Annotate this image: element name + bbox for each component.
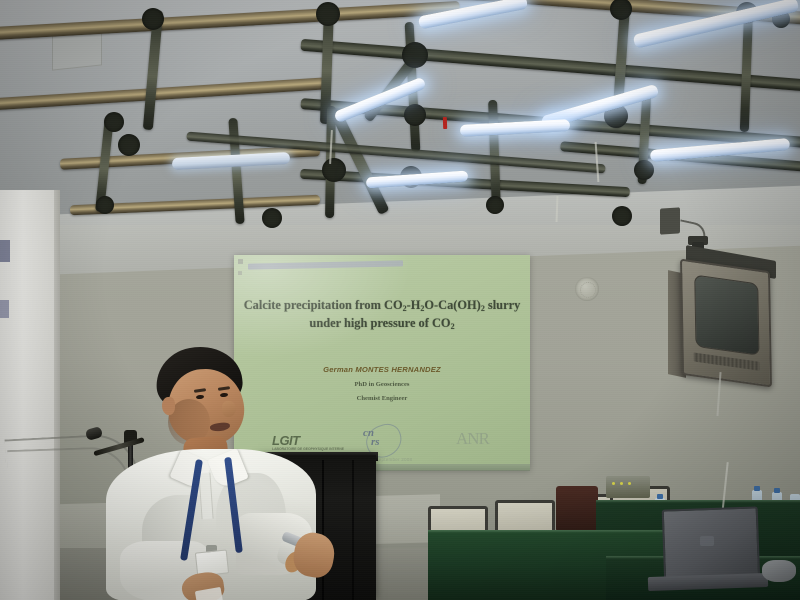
slide-title: Calcite precipitation from CO2-H2O-Ca(OH… — [242, 297, 522, 333]
truss-joint-17 — [104, 112, 124, 132]
table-edge-highlight — [596, 500, 800, 503]
laptop-lid-logo — [700, 536, 714, 546]
circular-wall-vent — [575, 277, 599, 301]
truss-joint-1 — [142, 8, 164, 30]
water-bottle-cap-3 — [774, 488, 780, 493]
truss-joint-15 — [486, 196, 504, 214]
presenter — [96, 345, 336, 600]
presentation-toolbar-dot — [238, 259, 243, 264]
crt-television — [680, 259, 772, 388]
podium-seam-2 — [352, 460, 354, 600]
av-box-led-1 — [612, 482, 615, 485]
tv-screen — [694, 275, 759, 356]
truss-joint-14 — [96, 196, 114, 214]
water-bottle-cap-2 — [754, 486, 760, 491]
column-edge — [54, 190, 60, 600]
truss-joint-3 — [402, 42, 428, 68]
column-marking-lower — [0, 300, 9, 318]
av-box-led-2 — [620, 482, 623, 485]
av-box-led-3 — [628, 482, 631, 485]
truss-joint-11 — [612, 206, 632, 226]
vent-inner-ring — [580, 282, 596, 298]
table-edge-highlight — [428, 530, 678, 533]
truss-joint-2 — [316, 2, 340, 26]
presentation-toolbar-dot-secondary — [238, 271, 242, 275]
truss-joint-7 — [322, 158, 346, 182]
anr-logo: ANR — [456, 429, 489, 449]
computer-mouse[interactable] — [762, 560, 796, 582]
cnrs-logo: cn rs — [362, 427, 408, 455]
ceiling-red-marker — [443, 117, 447, 129]
truss-joint-9 — [404, 104, 426, 126]
water-bottle-cap-1 — [657, 494, 663, 499]
presenter-ear — [162, 397, 175, 415]
tv-speaker-grille — [694, 352, 760, 370]
truss-joint-13 — [262, 208, 282, 228]
presentation-photo-scene: Calcite precipitation from CO2-H2O-Ca(OH… — [0, 0, 800, 600]
column-marking-upper — [0, 240, 10, 262]
presentation-toolbar-bar — [248, 260, 403, 269]
chair-4-dark — [556, 486, 598, 532]
truss-joint-16 — [634, 160, 654, 180]
av-control-box[interactable] — [606, 476, 650, 498]
cnrs-logo-bottom: rs — [371, 436, 380, 448]
truss-joint-6 — [118, 134, 140, 156]
